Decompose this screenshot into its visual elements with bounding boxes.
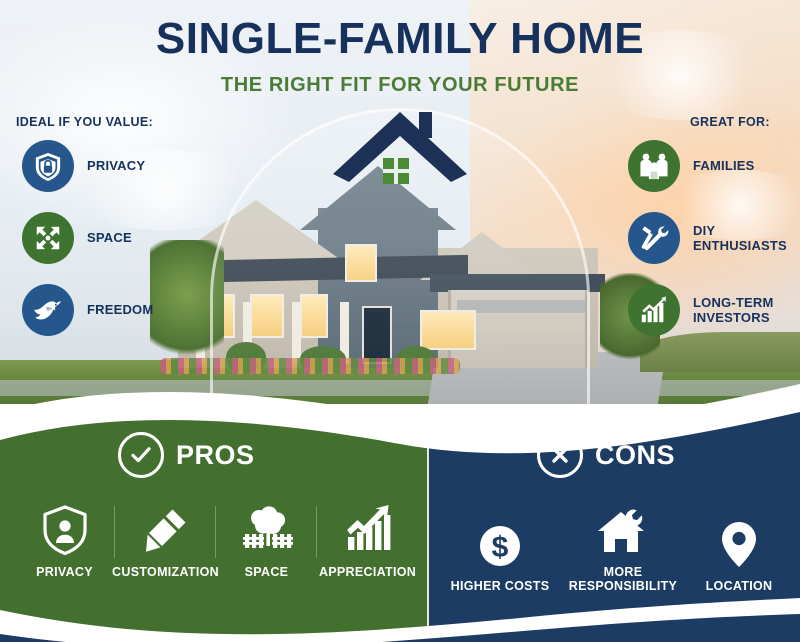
dollar-coin-icon: $: [476, 514, 524, 570]
list-item-label: SPACE: [87, 230, 132, 245]
growth-chart-icon: [628, 284, 680, 336]
cons-item-higher-costs[interactable]: $ HIGHER COSTS: [442, 500, 558, 594]
pros-item-privacy[interactable]: PRIVACY: [14, 500, 115, 579]
pros-item-label: APPRECIATION: [319, 565, 416, 579]
right-list-heading: GREAT FOR:: [690, 115, 770, 129]
shield-person-icon: [40, 500, 90, 556]
page-title: SINGLE-FAMILY HOME: [0, 14, 800, 64]
roof-logo-window: [383, 158, 409, 184]
shield-lock-icon: [22, 140, 74, 192]
list-item-label: FAMILIES: [693, 158, 755, 173]
pros-item-appreciation[interactable]: APPRECIATION: [317, 500, 418, 579]
house-wrench-icon: [596, 500, 650, 556]
infographic-poster: SINGLE-FAMILY HOME THE RIGHT FIT FOR YOU…: [0, 0, 800, 642]
list-item-label: DIY ENTHUSIASTS: [693, 223, 800, 253]
list-item-label: LONG-TERM INVESTORS: [693, 295, 800, 325]
pros-heading: PROS: [176, 440, 255, 471]
expand-arrows-icon: [22, 212, 74, 264]
pros-items: PRIVACY CUSTOMIZATION: [14, 500, 418, 579]
check-circle-icon: [118, 432, 164, 478]
svg-text:$: $: [492, 531, 509, 564]
list-item-space[interactable]: SPACE: [22, 212, 153, 264]
list-item-freedom[interactable]: FREEDOM: [22, 284, 153, 336]
map-pin-icon: [719, 514, 759, 570]
page-subtitle: THE RIGHT FIT FOR YOUR FUTURE: [0, 74, 800, 97]
growth-chart-icon: [342, 500, 394, 556]
cons-heading: CONS: [595, 440, 675, 471]
list-item-diy-enthusiasts[interactable]: DIY ENTHUSIASTS: [628, 212, 800, 264]
left-benefits-list: PRIVACY SPACE: [22, 140, 153, 336]
pros-item-label: SPACE: [245, 565, 289, 579]
right-benefits-list: FAMILIES DIY ENTHUSIASTS: [628, 140, 800, 336]
pros-item-label: PRIVACY: [36, 565, 93, 579]
cons-item-location[interactable]: LOCATION: [688, 500, 790, 594]
list-item-label: PRIVACY: [87, 158, 145, 173]
x-circle-icon: [537, 432, 583, 478]
pros-item-space[interactable]: SPACE: [216, 500, 317, 579]
hammer-wrench-icon: [628, 212, 680, 264]
wave-divider-bottom: [0, 588, 800, 642]
pros-item-label: CUSTOMIZATION: [112, 565, 219, 579]
pros-heading-group: PROS: [118, 432, 255, 478]
cons-heading-group: CONS: [537, 432, 675, 478]
background-hill: [640, 332, 800, 372]
list-item-privacy[interactable]: PRIVACY: [22, 140, 153, 192]
dove-icon: [22, 284, 74, 336]
list-item-families[interactable]: FAMILIES: [628, 140, 800, 192]
left-list-heading: IDEAL IF YOU VALUE:: [16, 115, 153, 129]
pros-item-customization[interactable]: CUSTOMIZATION: [115, 500, 216, 579]
list-item-label: FREEDOM: [87, 302, 153, 317]
cons-item-more-responsibility[interactable]: MORE RESPONSIBILITY: [558, 500, 688, 594]
family-icon: [628, 140, 680, 192]
pen-icon: [141, 500, 191, 556]
cons-items: $ HIGHER COSTS MORE RESPONSIBILITY: [442, 500, 790, 594]
tree-fence-icon: [239, 500, 295, 556]
list-item-long-term-investors[interactable]: LONG-TERM INVESTORS: [628, 284, 800, 336]
